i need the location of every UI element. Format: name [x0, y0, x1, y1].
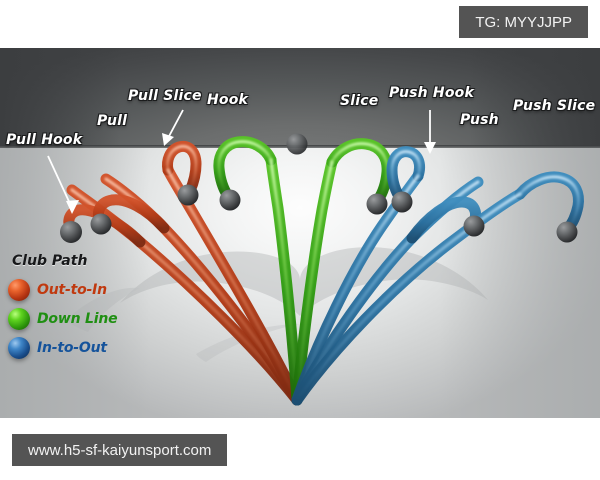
label-pull: Pull — [97, 113, 127, 129]
golf-ball-push-slice — [557, 222, 578, 243]
legend-item-out-to-in: Out-to-In — [8, 275, 148, 304]
label-push-slice: Push Slice — [513, 98, 595, 114]
label-pull-hook: Pull Hook — [6, 132, 82, 148]
arrow-pull-slice — [162, 110, 183, 146]
label-push: Push — [460, 112, 499, 128]
legend-item-down-line: Down Line — [8, 304, 148, 333]
legend-label-in-to-out: In-to-Out — [37, 340, 107, 356]
label-slice: Slice — [340, 93, 378, 109]
golf-ball-push — [464, 216, 485, 237]
golf-ball-pull-hook — [60, 221, 82, 243]
ball-flight-illustration: Pull Hook Pull Pull Slice Hook Slice Pus… — [0, 48, 600, 418]
golf-ball-slice — [367, 194, 388, 215]
green-ball-icon — [8, 308, 30, 330]
golf-ball-push-hook — [392, 192, 413, 213]
label-hook: Hook — [207, 92, 248, 108]
label-pull-slice: Pull Slice — [128, 88, 202, 104]
series-in-to-out — [297, 152, 578, 400]
blue-ball-icon — [8, 337, 30, 359]
arrow-push-hook — [424, 110, 436, 154]
screenshot-root: Pull Hook Pull Pull Slice Hook Slice Pus… — [0, 0, 600, 480]
trajectory-paths — [0, 48, 600, 418]
legend-item-in-to-out: In-to-Out — [8, 333, 148, 362]
golf-ball-pull — [91, 214, 112, 235]
watermark-top-right: TG: MYYJJPP — [459, 6, 588, 38]
arrow-pull-hook — [48, 156, 79, 214]
golf-ball-down-line — [287, 134, 308, 155]
red-ball-icon — [8, 279, 30, 301]
legend-title: Club Path — [12, 253, 148, 269]
watermark-bottom-left: www.h5-sf-kaiyunsport.com — [12, 434, 227, 466]
legend-label-out-to-in: Out-to-In — [37, 282, 107, 298]
club-path-legend: Club Path Out-to-In Down Line In-to-Out — [8, 253, 148, 362]
legend-label-down-line: Down Line — [37, 311, 117, 327]
golf-ball-hook — [220, 190, 241, 211]
label-push-hook: Push Hook — [389, 85, 474, 101]
golf-ball-pull-slice — [178, 185, 199, 206]
